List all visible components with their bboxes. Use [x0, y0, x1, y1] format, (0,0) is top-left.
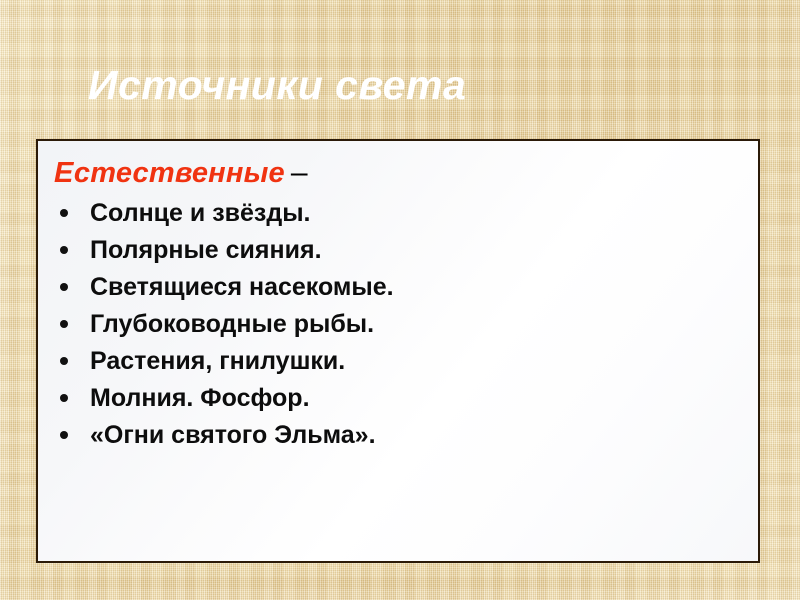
list-item-label: Молния. Фосфор.: [90, 384, 310, 412]
list-item: Солнце и звёзды.: [50, 195, 742, 232]
natural-light-sources-list: Солнце и звёзды. Полярные сияния. Светящ…: [50, 195, 742, 454]
bullet-dot-icon: [60, 357, 68, 365]
list-item: Растения, гнилушки.: [50, 343, 742, 380]
page-title: Источники света: [88, 62, 708, 108]
list-item-label: Полярные сияния.: [90, 236, 322, 264]
list-item-label: «Огни святого Эльма».: [90, 421, 376, 449]
list-item: Светящиеся насекомые.: [50, 269, 742, 306]
section-heading-dash: –: [285, 156, 308, 189]
section-heading-word: Естественные: [54, 157, 285, 189]
presentation-slide: Источники света Естественные– Солнце и з…: [0, 0, 800, 600]
list-item-label: Светящиеся насекомые.: [90, 273, 394, 301]
list-item: Полярные сияния.: [50, 232, 742, 269]
list-item-label: Глубоководные рыбы.: [90, 310, 374, 338]
bullet-dot-icon: [60, 394, 68, 402]
section-heading: Естественные–: [50, 153, 742, 195]
bullet-dot-icon: [60, 246, 68, 254]
bullet-dot-icon: [60, 209, 68, 217]
bullet-dot-icon: [60, 283, 68, 291]
list-item: «Огни святого Эльма».: [50, 417, 742, 454]
bullet-dot-icon: [60, 320, 68, 328]
bullet-dot-icon: [60, 431, 68, 439]
list-item-label: Солнце и звёзды.: [90, 199, 311, 227]
list-item-label: Растения, гнилушки.: [90, 347, 345, 375]
list-item: Молния. Фосфор.: [50, 380, 742, 417]
list-item: Глубоководные рыбы.: [50, 306, 742, 343]
content-panel: Естественные– Солнце и звёзды. Полярные …: [36, 139, 760, 563]
